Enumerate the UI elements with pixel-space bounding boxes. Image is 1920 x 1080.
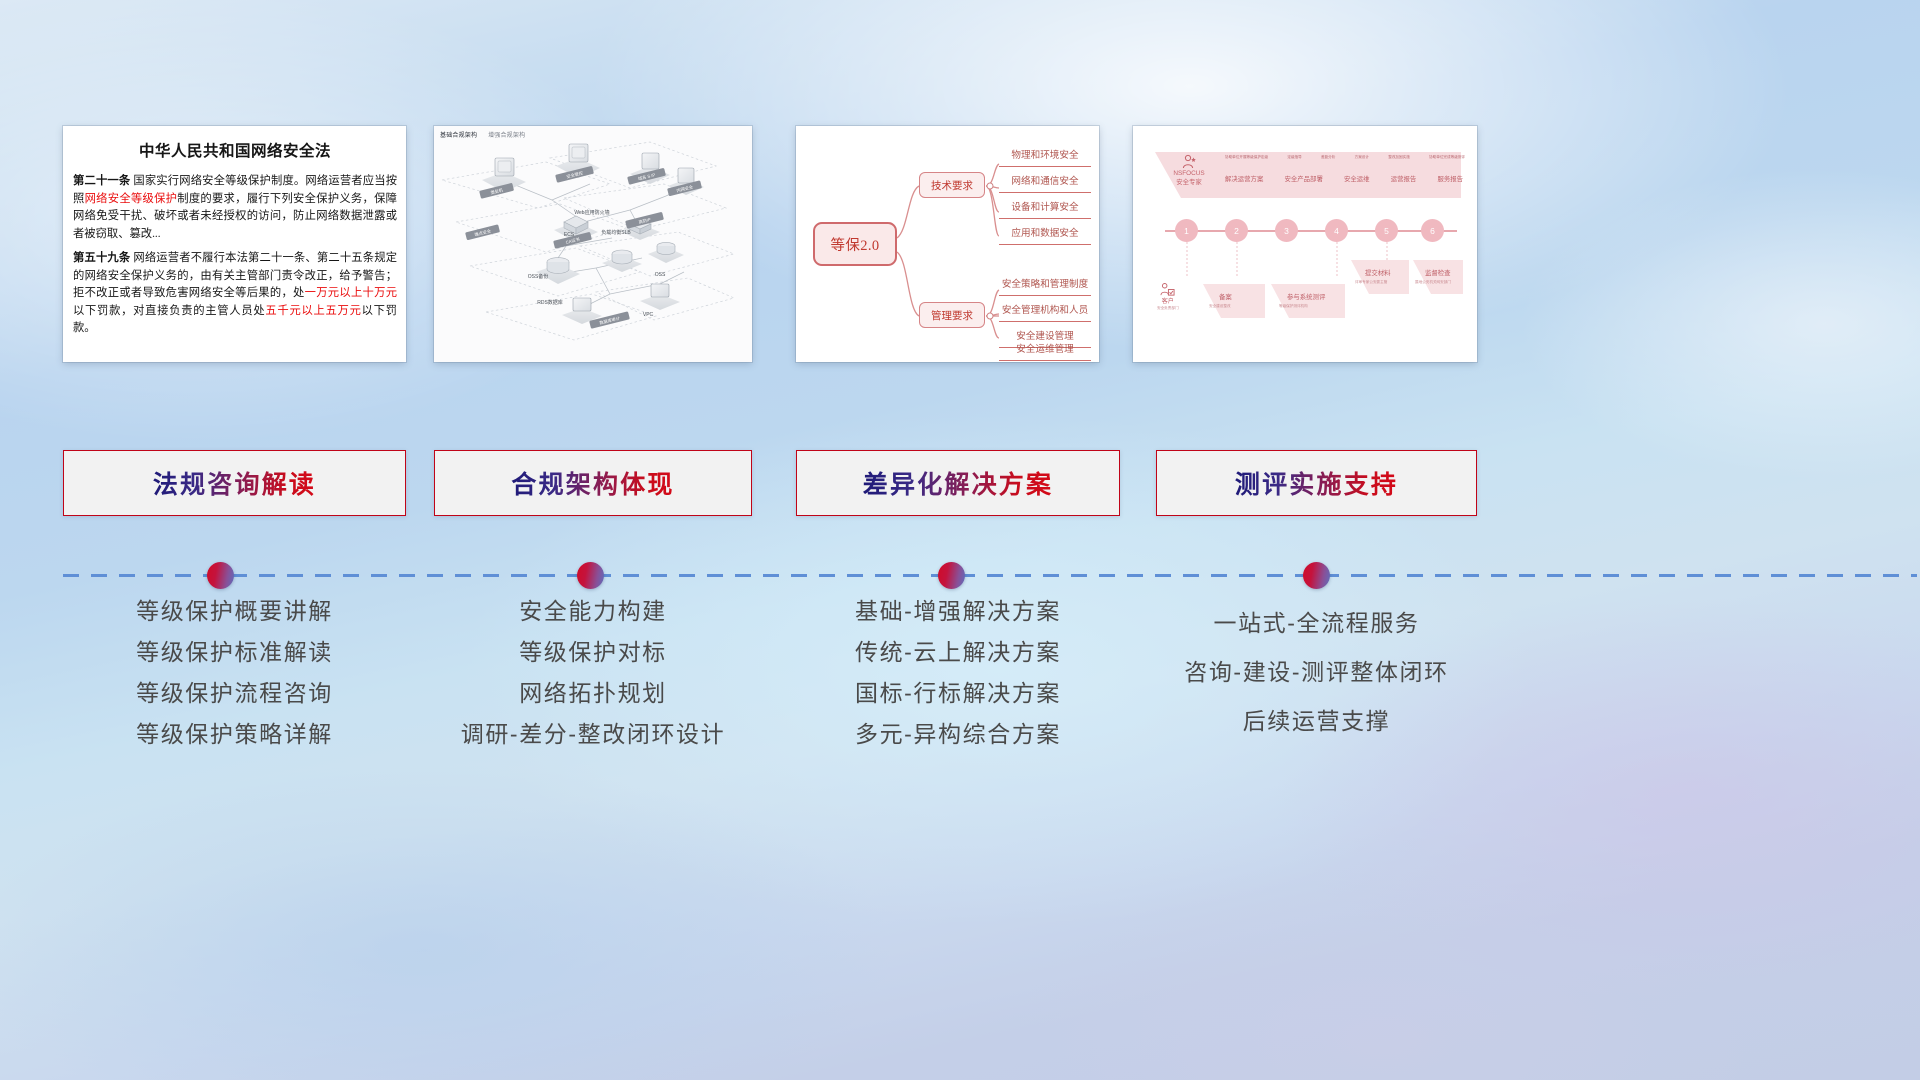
timeline (0, 556, 1920, 596)
service-chip-3-title: 提交材料 (1365, 268, 1391, 277)
section-title-box-1[interactable]: 法规咨询解读 (63, 450, 406, 516)
detail-list-2: 安全能力构建 等级保护对标 网络拓扑规划 调研-差分-整改闭环设计 (434, 600, 752, 764)
screenshot-cards-row: 中华人民共和国网络安全法 第二十一条 国家实行网络安全等级保护制度。网络运营者应… (0, 126, 1920, 362)
service-mid-label-4: 运营报告 (1391, 174, 1417, 183)
section-title-4: 测评实施支持 (1235, 465, 1398, 501)
service-step-4[interactable]: 4 (1325, 219, 1348, 242)
timeline-dot-3[interactable] (938, 562, 965, 589)
timeline-dot-2[interactable] (577, 562, 604, 589)
service-timeline-inner: NSFOCUS 安全专家 协助单位开展等级保护定级 定级指导 差距分析 方案设计… (1141, 134, 1469, 354)
law-article-21-highlight: 网络安全等级保护 (85, 193, 178, 205)
law-article-59-highlight-1: 一万元以上十万元 (305, 287, 397, 299)
mindmap-branch-management[interactable]: 管理要求 (919, 302, 985, 328)
section-title-row: 法规咨询解读 合规架构体现 差异化解决方案 测评实施支持 (0, 450, 1920, 516)
architecture-tab-basic[interactable]: 基础合规架构 (440, 133, 477, 139)
service-step-6[interactable]: 6 (1421, 219, 1444, 242)
svg-text:ECS: ECS (564, 232, 575, 238)
service-top-label-5: 整改加固实施 (1388, 155, 1410, 160)
service-top-labels: 协助单位开展等级保护定级 定级指导 差距分析 方案设计 整改加固实施 协助单位完… (1225, 155, 1465, 160)
service-chip-2-sub: 等级保护测评机构 (1279, 304, 1308, 309)
service-chip-4-title: 监督检查 (1425, 268, 1451, 277)
mindmap-leaf-app-data: 应用和数据安全 (999, 224, 1091, 245)
mindmap-branch-technical[interactable]: 技术要求 (919, 172, 985, 198)
customer-icon (1160, 282, 1175, 297)
timeline-dot-4[interactable] (1303, 562, 1330, 589)
svg-text:OSS备份: OSS备份 (528, 273, 549, 280)
nsfocus-brand: NSFOCUS (1163, 170, 1215, 179)
law-article-59: 第五十九条 网络运营者不履行本法第二十一条、第二十五条规定的网络安全保护义务的，… (73, 250, 397, 338)
mindmap-leaf-device-compute: 设备和计算安全 (999, 198, 1091, 219)
service-chip-2[interactable] (1271, 284, 1345, 318)
service-chip-1-title: 备案 (1219, 292, 1232, 301)
mindmap-leaf-policy-system: 安全策略和管理制度 (999, 275, 1091, 296)
service-top-label-6: 协助单位完成等级测评 (1429, 155, 1465, 160)
card-cloud-architecture[interactable]: 基础合规架构 增强合规架构 (434, 126, 752, 362)
timeline-dot-1[interactable] (207, 562, 234, 589)
service-customer-label: 客户 (1157, 298, 1179, 306)
svg-text:负载均衡SLB: 负载均衡SLB (601, 229, 631, 236)
service-chip-3-sub: 评审专家公安委主管 (1355, 280, 1387, 285)
list-item: 等级保护流程咨询 (63, 682, 406, 705)
service-mid-label-5: 服务报告 (1437, 174, 1463, 183)
card-cybersecurity-law[interactable]: 中华人民共和国网络安全法 第二十一条 国家实行网络安全等级保护制度。网络运营者应… (63, 126, 406, 362)
service-top-label-4: 方案设计 (1355, 155, 1369, 160)
list-item: 等级保护标准解读 (63, 641, 406, 664)
law-article-21-label: 第二十一条 (73, 175, 130, 187)
svg-text:OSS: OSS (655, 272, 666, 278)
mindmap-leaf-physical-env: 物理和环境安全 (999, 146, 1091, 167)
nsfocus-badge: NSFOCUS 安全专家 (1163, 154, 1215, 198)
service-chip-1[interactable] (1203, 284, 1265, 318)
section-title-1: 法规咨询解读 (153, 465, 316, 501)
detail-list-3: 基础-增强解决方案 传统-云上解决方案 国标-行标解决方案 多元-异构综合方案 (796, 600, 1120, 764)
service-mid-label-2: 安全产品部署 (1285, 174, 1323, 183)
section-title-box-2[interactable]: 合规架构体现 (434, 450, 752, 516)
architecture-diagram: 基础合规架构 增强合规架构 (434, 126, 752, 362)
service-mid-label-1: 解决运营方案 (1225, 174, 1263, 183)
list-item: 后续运营支撑 (1156, 710, 1477, 733)
service-top-label-1: 协助单位开展等级保护定级 (1225, 155, 1268, 160)
service-step-5[interactable]: 5 (1375, 219, 1398, 242)
section-title-3: 差异化解决方案 (863, 465, 1053, 501)
section-title-box-3[interactable]: 差异化解决方案 (796, 450, 1120, 516)
service-chip-3[interactable] (1351, 260, 1409, 294)
timeline-dashed-line (63, 574, 1917, 577)
list-item: 基础-增强解决方案 (796, 600, 1120, 623)
architecture-tab-enhanced[interactable]: 增强合规架构 (488, 133, 525, 139)
mindmap-leaf-network-comm: 网络和通信安全 (999, 172, 1091, 193)
service-step-3[interactable]: 3 (1275, 219, 1298, 242)
security-expert-icon (1181, 154, 1197, 169)
mindmap-leaf-org-personnel: 安全管理机构和人员 (999, 301, 1091, 322)
mindmap-leaf-ops-mgmt: 安全运维管理 (999, 340, 1091, 361)
section-title-2: 合规架构体现 (511, 465, 674, 501)
service-step-1[interactable]: 1 (1175, 219, 1198, 242)
list-item: 等级保护对标 (434, 641, 752, 664)
service-mid-label-3: 安全运维 (1344, 174, 1370, 183)
service-chip-2-title: 参与系统测评 (1287, 292, 1325, 301)
list-item: 咨询-建设-测评整体闭环 (1156, 661, 1477, 684)
list-item: 网络拓扑规划 (434, 682, 752, 705)
architecture-topology-svg: 堡垒机 安全管控 域名 S.IP 内网安全 端点安全 CA证书 高防IP Web… (434, 126, 752, 362)
svg-text:VPC: VPC (643, 312, 654, 318)
detail-list-4: 一站式-全流程服务 咨询-建设-测评整体闭环 后续运营支撑 (1156, 612, 1477, 759)
service-timeline-rail (1165, 230, 1457, 232)
architecture-tabs: 基础合规架构 增强合规架构 (440, 130, 534, 139)
list-item: 多元-异构综合方案 (796, 723, 1120, 746)
list-item: 传统-云上解决方案 (796, 641, 1120, 664)
list-item: 等级保护概要讲解 (63, 600, 406, 623)
nsfocus-brand-sub: 安全专家 (1163, 179, 1215, 188)
mindmap-root-node[interactable]: 等保2.0 (813, 222, 897, 266)
slide-content: 中华人民共和国网络安全法 第二十一条 国家实行网络安全等级保护制度。网络运营者应… (0, 0, 1920, 1080)
law-article-59-label: 第五十九条 (73, 252, 130, 264)
detail-list-1: 等级保护概要讲解 等级保护标准解读 等级保护流程咨询 等级保护策略详解 (63, 600, 406, 764)
service-chip-4[interactable] (1413, 260, 1463, 294)
law-article-59-body-b: 以下罚款，对直接负责的主管人员处 (73, 305, 265, 317)
svg-text:RDS数据库: RDS数据库 (537, 299, 563, 306)
law-article-21: 第二十一条 国家实行网络安全等级保护制度。网络运营者应当按照网络安全等级保护制度… (73, 173, 397, 243)
service-mid-labels: 解决运营方案 安全产品部署 安全运维 运营报告 服务报告 (1225, 174, 1463, 183)
list-item: 调研-差分-整改闭环设计 (434, 723, 752, 746)
service-chip-1-sub: 安全建设整改 (1209, 304, 1231, 309)
card-service-timeline[interactable]: NSFOCUS 安全专家 协助单位开展等级保护定级 定级指导 差距分析 方案设计… (1133, 126, 1477, 362)
section-title-box-4[interactable]: 测评实施支持 (1156, 450, 1477, 516)
mindmap: 等保2.0 技术要求 物理和环境安全 网络和通信安全 设备和计算安全 应用和数据… (796, 126, 1099, 362)
law-document: 中华人民共和国网络安全法 第二十一条 国家实行网络安全等级保护制度。网络运营者应… (63, 126, 406, 362)
list-item: 安全能力构建 (434, 600, 752, 623)
section-detail-lists: 等级保护概要讲解 等级保护标准解读 等级保护流程咨询 等级保护策略详解 安全能力… (0, 600, 1920, 830)
card-mindmap-dengbao[interactable]: 等保2.0 技术要求 物理和环境安全 网络和通信安全 设备和计算安全 应用和数据… (796, 126, 1099, 362)
list-item: 一站式-全流程服务 (1156, 612, 1477, 635)
service-customer-block: 客户 安全负责部门 (1157, 282, 1179, 311)
list-item: 国标-行标解决方案 (796, 682, 1120, 705)
service-top-label-3: 差距分析 (1321, 155, 1335, 160)
service-customer-sub: 安全负责部门 (1157, 306, 1179, 311)
service-step-2[interactable]: 2 (1225, 219, 1248, 242)
list-item: 等级保护策略详解 (63, 723, 406, 746)
law-title: 中华人民共和国网络安全法 (73, 140, 397, 164)
service-chip-4-sub: 属地公安机关网安部门 (1415, 280, 1451, 285)
service-timeline: NSFOCUS 安全专家 协助单位开展等级保护定级 定级指导 差距分析 方案设计… (1133, 126, 1477, 362)
service-top-label-2: 定级指导 (1287, 155, 1301, 160)
svg-text:Web应用防火墙: Web应用防火墙 (574, 209, 609, 216)
law-article-59-highlight-2: 五千元以上五万元 (265, 305, 361, 317)
